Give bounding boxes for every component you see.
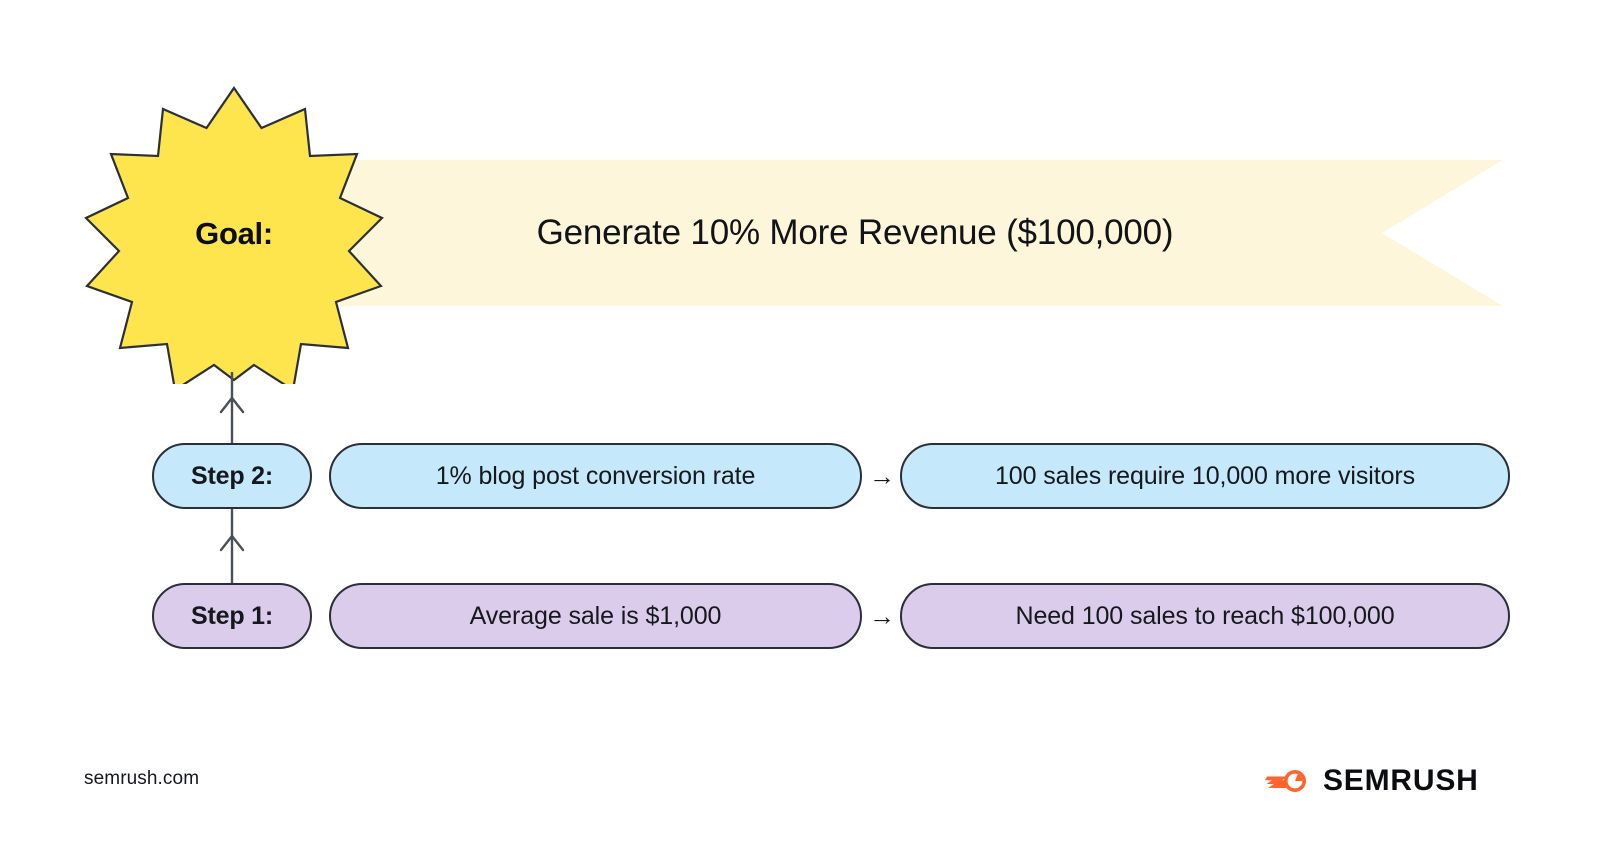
arrowhead-step2-to-goal (221, 398, 243, 412)
goal-banner: Generate 10% More Revenue ($100,000) (340, 160, 1503, 306)
semrush-logo: SEMRUSH (1264, 760, 1479, 802)
step-1-result[interactable]: Need 100 sales to reach $100,000 (900, 583, 1510, 649)
step-2-arrow-icon: → (864, 443, 900, 509)
step-2-badge[interactable]: Step 2: (152, 443, 312, 509)
step-1-arrow-icon: → (864, 583, 900, 649)
goal-banner-text: Generate 10% More Revenue ($100,000) (340, 160, 1370, 306)
step-2-premise-label: 1% blog post conversion rate (436, 462, 756, 491)
infographic-canvas: Generate 10% More Revenue ($100,000) Goa… (0, 0, 1600, 841)
arrowhead-step1-to-step2 (221, 536, 243, 550)
step-1-premise-label: Average sale is $1,000 (470, 602, 722, 631)
step-2-label: Step 2: (191, 462, 273, 491)
semrush-comet-icon (1264, 766, 1310, 796)
step-1-badge[interactable]: Step 1: (152, 583, 312, 649)
semrush-wordmark: SEMRUSH (1323, 764, 1479, 798)
flow-row-step-2: Step 2: 1% blog post conversion rate → 1… (0, 443, 1600, 513)
footer-site-url: semrush.com (84, 768, 199, 790)
goal-star-label: Goal: (84, 84, 384, 384)
step-2-result-label: 100 sales require 10,000 more visitors (995, 462, 1415, 491)
step-2-premise[interactable]: 1% blog post conversion rate (329, 443, 862, 509)
flow-row-step-1: Step 1: Average sale is $1,000 → Need 10… (0, 583, 1600, 653)
goal-star-badge: Goal: (84, 84, 384, 384)
step-1-label: Step 1: (191, 602, 273, 631)
step-1-premise[interactable]: Average sale is $1,000 (329, 583, 862, 649)
step-2-result[interactable]: 100 sales require 10,000 more visitors (900, 443, 1510, 509)
step-1-result-label: Need 100 sales to reach $100,000 (1015, 602, 1394, 631)
